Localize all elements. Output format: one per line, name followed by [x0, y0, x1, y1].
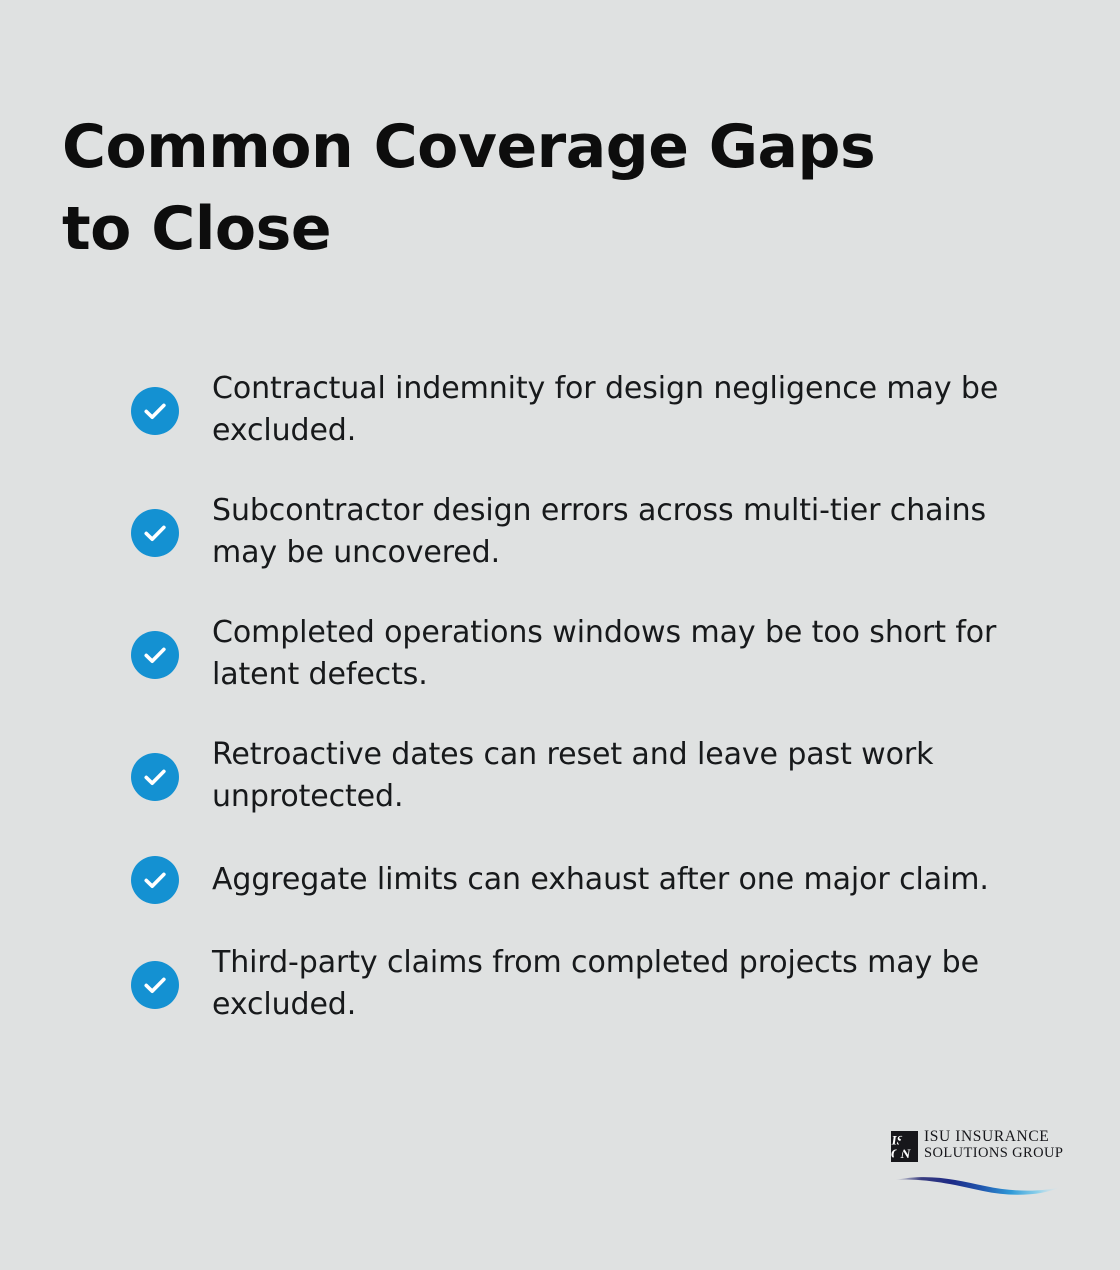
check-icon	[131, 631, 179, 679]
page-title: Common Coverage Gaps to Close	[62, 106, 962, 270]
wave-swoosh-icon	[893, 1171, 1063, 1197]
list-item: Contractual indemnity for design neglige…	[131, 368, 1031, 452]
logo-line-2: SOLUTIONS GROUP	[924, 1146, 1063, 1161]
list-item-label: Retroactive dates can reset and leave pa…	[212, 734, 1012, 818]
check-icon	[131, 856, 179, 904]
logo-wordmark: ISU INSURANCE SOLUTIONS GROUP	[924, 1129, 1063, 1161]
list-item-label: Completed operations windows may be too …	[212, 612, 1012, 696]
logo-line-1: ISU INSURANCE	[924, 1129, 1063, 1145]
check-icon	[131, 509, 179, 557]
list-item-label: Contractual indemnity for design neglige…	[212, 368, 1012, 452]
list-item: Aggregate limits can exhaust after one m…	[131, 856, 1031, 904]
check-icon	[131, 961, 179, 1009]
check-icon	[131, 387, 179, 435]
slide-canvas: Common Coverage Gaps to Close Contractua…	[0, 0, 1120, 1270]
list-item-label: Aggregate limits can exhaust after one m…	[212, 859, 1012, 901]
list-item: Third-party claims from completed projec…	[131, 942, 1031, 1026]
logo-lockup: IS GN ISU INSURANCE SOLUTIONS GROUP	[891, 1129, 1063, 1162]
isu-monogram-icon: IS GN	[891, 1131, 918, 1162]
list-item-label: Subcontractor design errors across multi…	[212, 490, 1012, 574]
check-icon	[131, 753, 179, 801]
company-logo: IS GN ISU INSURANCE SOLUTIONS GROUP	[891, 1129, 1063, 1199]
list-item: Retroactive dates can reset and leave pa…	[131, 734, 1031, 818]
list-item: Completed operations windows may be too …	[131, 612, 1031, 696]
coverage-gaps-list: Contractual indemnity for design neglige…	[131, 368, 1031, 1026]
list-item: Subcontractor design errors across multi…	[131, 490, 1031, 574]
list-item-label: Third-party claims from completed projec…	[212, 942, 1012, 1026]
